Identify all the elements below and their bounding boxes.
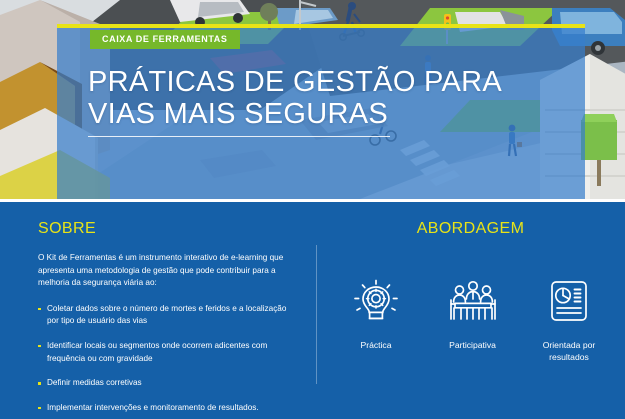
approach-label: Orientada por resultados bbox=[523, 340, 615, 363]
approach-item-participativa: Participativa bbox=[427, 278, 519, 352]
report-pie-chart-icon bbox=[546, 278, 592, 328]
list-item: Implementar intervenções e monitoramento… bbox=[38, 402, 300, 415]
approach-item-practica: Práctica bbox=[330, 278, 422, 352]
approach-icon-row: Práctica bbox=[330, 278, 615, 363]
column-divider bbox=[316, 245, 317, 384]
list-item: Identificar locais ou segmentos onde oco… bbox=[38, 340, 300, 365]
toolbox-badge: CAIXA DE FERRAMENTAS bbox=[90, 30, 240, 49]
list-item: Coletar dados sobre o número de mortes e… bbox=[38, 303, 300, 328]
approach-label: Participativa bbox=[427, 340, 519, 352]
infographic-page: CAIXA DE FERRAMENTAS PRÁTICAS DE GESTÃO … bbox=[0, 0, 625, 419]
title-underline bbox=[88, 136, 390, 137]
about-section: SOBRE O Kit de Ferramentas é um instrume… bbox=[38, 220, 300, 419]
about-bullet-list: Coletar dados sobre o número de mortes e… bbox=[38, 303, 300, 415]
page-title-line-2: VIAS MAIS SEGURAS bbox=[88, 98, 518, 130]
approach-section: ABORDAGEM bbox=[316, 220, 625, 238]
approach-item-orientada-resultados: Orientada por resultados bbox=[523, 278, 615, 363]
page-title-line-1: PRÁTICAS DE GESTÃO PARA bbox=[88, 66, 518, 98]
about-intro-text: O Kit de Ferramentas é um instrumento in… bbox=[38, 252, 300, 290]
hero-banner: CAIXA DE FERRAMENTAS PRÁTICAS DE GESTÃO … bbox=[0, 0, 625, 199]
approach-label: Práctica bbox=[330, 340, 422, 352]
about-heading: SOBRE bbox=[38, 220, 300, 238]
people-at-table-icon bbox=[445, 278, 501, 328]
page-title: PRÁTICAS DE GESTÃO PARA VIAS MAIS SEGURA… bbox=[88, 66, 518, 130]
lightbulb-gear-icon bbox=[351, 278, 401, 328]
approach-heading: ABORDAGEM bbox=[316, 220, 625, 238]
list-item: Definir medidas corretivas bbox=[38, 377, 300, 390]
